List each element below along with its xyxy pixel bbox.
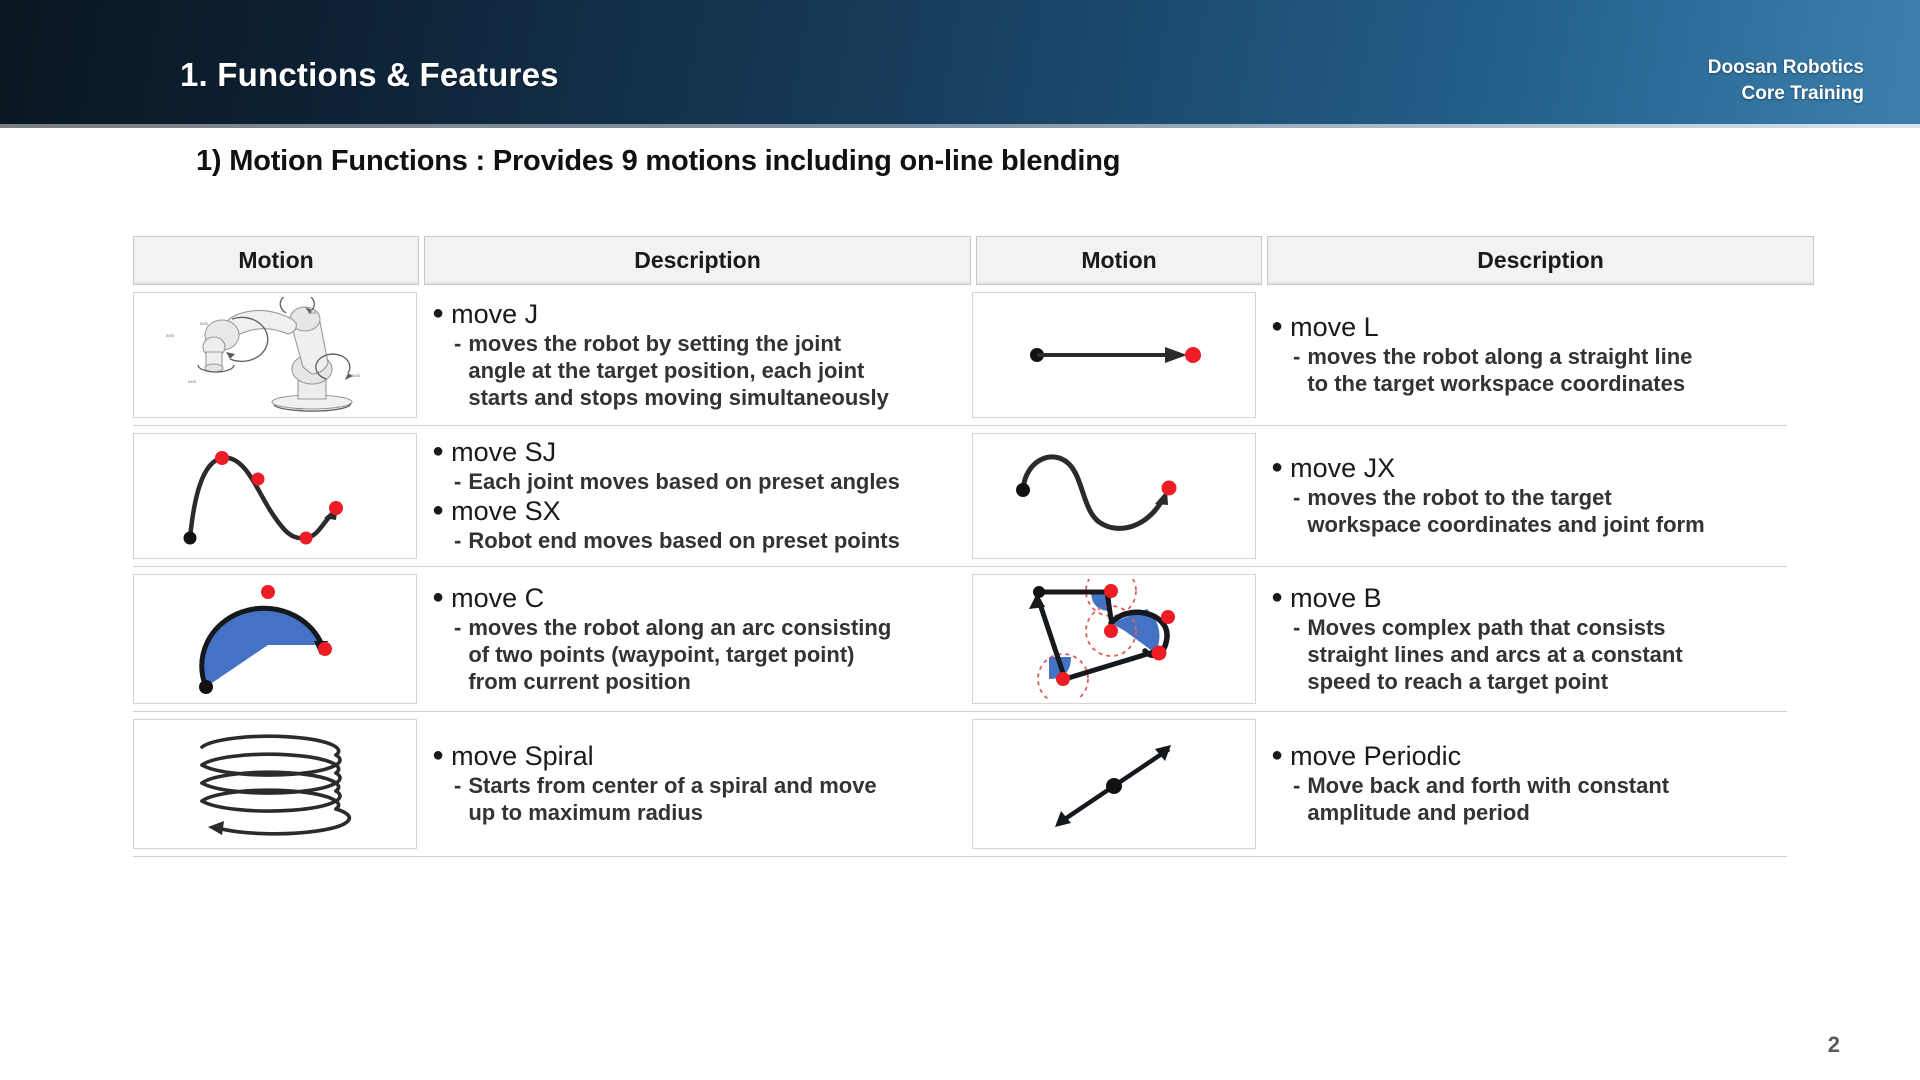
- s-curve-icon: [979, 438, 1249, 554]
- description-cell-move-spiral: ● move Spiral - Starts from center of a …: [422, 719, 967, 849]
- column-header-description-1: Description: [424, 236, 971, 285]
- table-header-row: Motion Description Motion Description: [133, 236, 1787, 285]
- bullet-dot-icon: ●: [1271, 312, 1283, 341]
- page-title: 1. Functions & Features: [180, 56, 559, 94]
- dash-icon: -: [1293, 344, 1300, 371]
- motion-diagram-cell-move-spiral: [133, 719, 417, 849]
- bullet-dot-icon: ●: [1271, 583, 1283, 612]
- svg-text:axis: axis: [188, 379, 197, 384]
- svg-text:axis: axis: [166, 333, 175, 338]
- motion-detail-move-periodic: - Move back and forth with constant ampl…: [1293, 773, 1806, 827]
- motion-title-move-sx: ● move SX: [432, 496, 967, 526]
- motion-diagram-cell-move-j: axis axis axis axis axis axis: [133, 292, 417, 418]
- table-row: ● move SJ - Each joint moves based on pr…: [133, 426, 1787, 567]
- motion-detail-move-jx: - moves the robot to the target workspac…: [1293, 485, 1806, 539]
- column-header-description-2: Description: [1267, 236, 1814, 285]
- robot-arm-axes-icon: axis axis axis axis axis axis: [140, 297, 410, 413]
- motion-diagram-cell-move-c: [133, 574, 417, 704]
- motion-title-move-l: ● move L: [1271, 312, 1806, 342]
- motion-title-move-j: ● move J: [432, 299, 967, 329]
- bullet-dot-icon: ●: [432, 496, 444, 525]
- motion-title-move-periodic: ● move Periodic: [1271, 741, 1806, 771]
- description-cell-move-periodic: ● move Periodic - Move back and forth wi…: [1261, 719, 1806, 849]
- column-header-motion-1: Motion: [133, 236, 419, 285]
- blended-path-icon: [979, 579, 1249, 699]
- table-row: ● move C - moves the robot along an arc …: [133, 567, 1787, 712]
- motion-diagram-cell-move-sj-sx: [133, 433, 417, 559]
- header-underline: [0, 124, 1920, 128]
- motion-diagram-cell-move-jx: [972, 433, 1256, 559]
- section-subtitle: 1) Motion Functions : Provides 9 motions…: [196, 145, 1120, 178]
- brand-line-2: Core Training: [1708, 81, 1864, 107]
- bullet-dot-icon: ●: [1271, 741, 1283, 770]
- table-row: axis axis axis axis axis axis ● move J -…: [133, 285, 1787, 426]
- dash-icon: -: [454, 528, 461, 555]
- dash-icon: -: [1293, 615, 1300, 642]
- column-header-motion-2: Motion: [976, 236, 1262, 285]
- brand-block: Doosan Robotics Core Training: [1708, 55, 1864, 106]
- brand-line-1: Doosan Robotics: [1708, 55, 1864, 81]
- motion-title-move-sj: ● move SJ: [432, 437, 967, 467]
- dash-icon: -: [454, 773, 461, 800]
- bullet-dot-icon: ●: [1271, 453, 1283, 482]
- bullet-dot-icon: ●: [432, 583, 444, 612]
- motion-title-move-b: ● move B: [1271, 583, 1806, 613]
- motion-detail-move-sx: - Robot end moves based on preset points: [454, 528, 967, 555]
- straight-line-arrow-icon: [979, 297, 1249, 413]
- motion-diagram-cell-move-l: [972, 292, 1256, 418]
- dash-icon: -: [1293, 773, 1300, 800]
- motion-diagram-cell-move-b: [972, 574, 1256, 704]
- motion-title-move-spiral: ● move Spiral: [432, 741, 967, 771]
- svg-text:axis: axis: [200, 321, 209, 326]
- circular-arc-sector-icon: [140, 579, 410, 699]
- motion-detail-move-spiral: - Starts from center of a spiral and mov…: [454, 773, 967, 827]
- spline-waypoints-icon: [140, 438, 410, 554]
- dash-icon: -: [454, 331, 461, 358]
- spiral-helix-icon: [140, 723, 410, 845]
- svg-text:axis: axis: [352, 373, 361, 378]
- dash-icon: -: [454, 615, 461, 642]
- svg-text:axis: axis: [295, 407, 304, 412]
- description-cell-move-b: ● move B - Moves complex path that consi…: [1261, 574, 1806, 704]
- motion-diagram-cell-move-periodic: [972, 719, 1256, 849]
- motion-detail-move-l: - moves the robot along a straight line …: [1293, 344, 1806, 398]
- description-cell-move-jx: ● move JX - moves the robot to the targe…: [1261, 433, 1806, 559]
- description-cell-move-c: ● move C - moves the robot along an arc …: [422, 574, 967, 704]
- motion-detail-move-c: - moves the robot along an arc consistin…: [454, 615, 967, 695]
- description-cell-move-j: ● move J - moves the robot by setting th…: [422, 292, 967, 418]
- motion-functions-table: Motion Description Motion Description: [133, 236, 1787, 857]
- slide-header-bar: 1. Functions & Features Doosan Robotics …: [0, 0, 1920, 124]
- table-row: ● move Spiral - Starts from center of a …: [133, 712, 1787, 857]
- page-number: 2: [1828, 1032, 1840, 1058]
- bullet-dot-icon: ●: [432, 741, 444, 770]
- motion-detail-move-b: - Moves complex path that consists strai…: [1293, 615, 1806, 695]
- motion-title-move-c: ● move C: [432, 583, 967, 613]
- dash-icon: -: [454, 469, 461, 496]
- description-cell-move-sj-sx: ● move SJ - Each joint moves based on pr…: [422, 433, 967, 559]
- motion-detail-move-sj: - Each joint moves based on preset angle…: [454, 469, 967, 496]
- dash-icon: -: [1293, 485, 1300, 512]
- bullet-dot-icon: ●: [432, 299, 444, 328]
- motion-title-move-jx: ● move JX: [1271, 453, 1806, 483]
- description-cell-move-l: ● move L - moves the robot along a strai…: [1261, 292, 1806, 418]
- double-arrow-periodic-icon: [979, 723, 1249, 845]
- bullet-dot-icon: ●: [432, 437, 444, 466]
- svg-text:axis: axis: [308, 310, 317, 315]
- motion-detail-move-j: - moves the robot by setting the joint a…: [454, 331, 967, 411]
